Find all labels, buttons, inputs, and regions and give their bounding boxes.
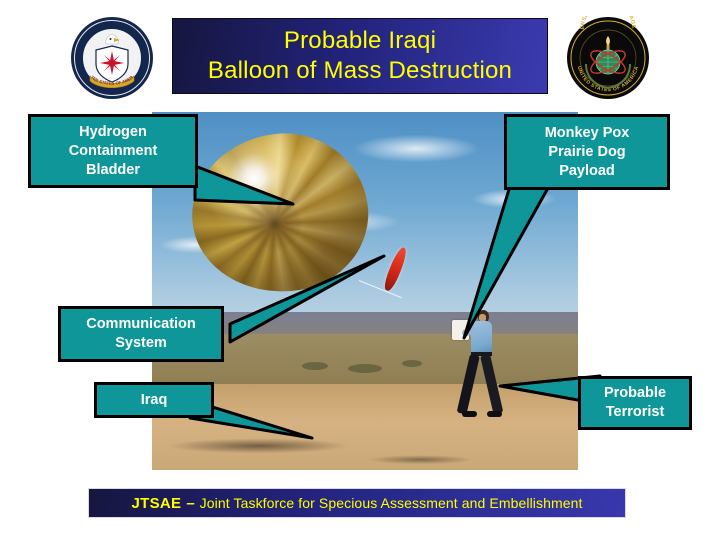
callout-line: Probable [604,384,666,403]
communication-system-pointer [218,256,388,348]
callout-line: Containment [69,142,158,161]
page-title-line-2: Balloon of Mass Destruction [208,56,512,86]
hydrogen-bladder-pointer [195,160,305,210]
callout-iraq[interactable]: Iraq [94,382,214,418]
callout-line: Bladder [86,161,140,180]
banner-acronym: JTSAE [131,495,181,512]
callout-line: Prairie Dog [548,143,625,162]
scrub-bush [302,362,328,370]
callout-line: Monkey Pox [545,124,630,143]
callout-line: Communication [86,315,196,334]
callout-monkey-pox-prairie-dog-payload[interactable]: Monkey Pox Prairie Dog Payload [504,114,670,190]
callout-line: Terrorist [606,403,665,422]
person-leg-back [457,354,480,415]
callout-line: Iraq [141,391,168,410]
scrub-bush [348,364,382,373]
callout-line: Hydrogen [79,123,147,142]
dia-seal: DEFENSE INTELLIGENCE AGENCY UNITED STATE… [566,16,650,100]
monkey-pox-pointer [452,186,562,346]
slide-title-block: Probable Iraqi Balloon of Mass Destructi… [172,18,548,94]
banner-expansion: Joint Taskforce for Specious Assessment … [200,495,583,511]
callout-hydrogen-containment-bladder[interactable]: Hydrogen Containment Bladder [28,114,198,188]
footer-banner: JTSAE – Joint Taskforce for Specious Ass… [88,488,626,518]
scrub-bush [402,360,422,367]
cia-seal: CENTRAL INTELLIGENCE AGENCY [70,16,154,100]
page-title-line-1: Probable Iraqi [284,26,436,56]
callout-communication-system[interactable]: Communication System [58,306,224,362]
banner-dash: – [181,495,199,512]
callout-line: Payload [559,162,615,181]
callout-line: System [115,334,167,353]
callout-probable-terrorist[interactable]: Probable Terrorist [578,376,692,430]
presentation-slide: CENTRAL INTELLIGENCE AGENCY [0,0,720,540]
person-shoe-back [462,411,477,417]
